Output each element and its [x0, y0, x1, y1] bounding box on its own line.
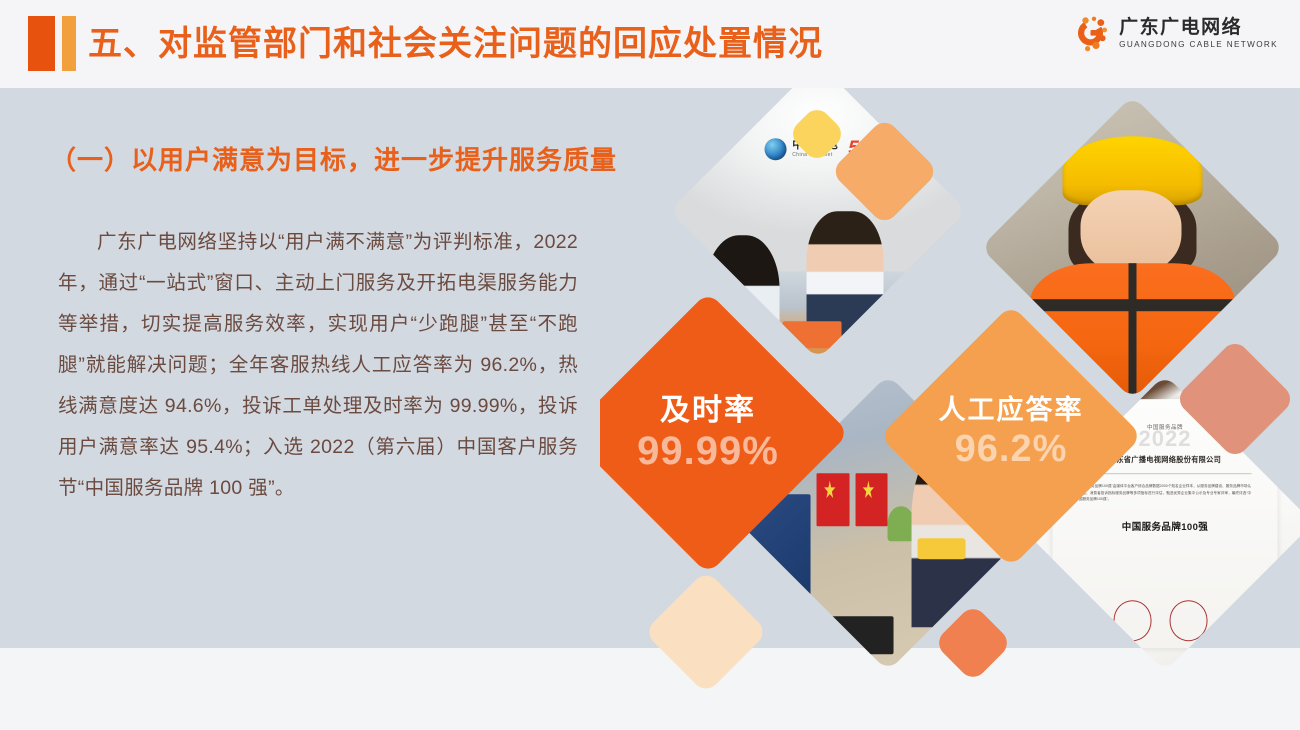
agent-scarf — [918, 538, 966, 559]
certificate-award: 中国服务品牌100强 — [1079, 518, 1251, 532]
counter-plate — [782, 321, 841, 348]
staff-figure — [806, 211, 883, 336]
flag-star-icon — [824, 480, 836, 499]
diamond-collage: 中国广电 China Broadnet 5G — [600, 88, 1300, 730]
certificate-qr-code — [1066, 608, 1091, 635]
desk-plant — [888, 505, 915, 541]
china-broadnet-globe-icon — [764, 138, 786, 160]
decor-diamond-peach — [644, 570, 768, 694]
certificate-seal — [1170, 600, 1208, 640]
stat-value-timeliness: 99.99% — [608, 429, 808, 474]
header-accent-bar-primary — [28, 16, 55, 71]
logo-text-cn: 广东广电网络 — [1119, 17, 1278, 38]
flag-star-icon — [863, 480, 875, 499]
vest-zipper — [1128, 263, 1136, 400]
party-flag — [817, 473, 850, 526]
body-paragraph: 广东广电网络坚持以“用户满不满意”为评判标准，2022 年，通过“一站式”窗口、… — [58, 222, 578, 509]
keyboard — [775, 615, 894, 654]
certificate-seal — [1113, 600, 1151, 640]
brand-logo: 广东广电网络 GUANGDONG CABLE NETWORK — [1070, 14, 1278, 54]
logo-g-dots-icon — [1070, 14, 1110, 54]
page-title: 五、对监管部门和社会关注问题的回应处置情况 — [88, 18, 823, 70]
stat-label-answer-rate: 人工应答率 — [918, 388, 1104, 427]
slide-header: 五、对监管部门和社会关注问题的回应处置情况 广东广电网络 GUANGDONG C — [0, 0, 1300, 88]
worker-face — [1081, 190, 1181, 275]
certificate-body-text: “中国服务品牌100强”由媒体平台客户综合品牌数据2000个知名企业样本，从服务… — [1079, 482, 1251, 502]
national-flag — [855, 473, 888, 526]
stat-tile-answer-rate-inner: 人工应答率 96.2% — [918, 343, 1104, 529]
logo-text-en: GUANGDONG CABLE NETWORK — [1119, 39, 1278, 51]
stat-tile-timeliness-inner: 及时率 99.99% — [608, 333, 808, 533]
slide-root: 五、对监管部门和社会关注问题的回应处置情况 广东广电网络 GUANGDONG C — [0, 0, 1300, 730]
stat-label-timeliness: 及时率 — [608, 385, 808, 429]
header-accent-bar-secondary — [62, 16, 76, 71]
decor-diamond-orange-mid — [933, 603, 1012, 682]
stat-value-answer-rate: 96.2% — [918, 428, 1104, 471]
section-heading: （一）以用户满意为目标，进一步提升服务质量 — [50, 140, 617, 177]
certificate-year: 2022 — [1139, 426, 1192, 452]
